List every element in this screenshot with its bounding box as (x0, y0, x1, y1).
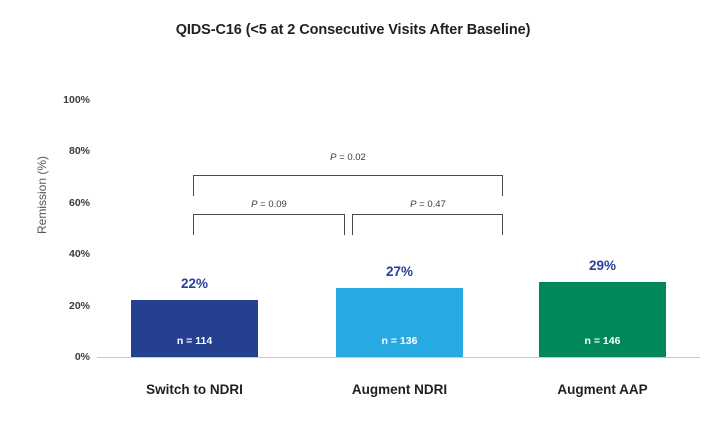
bar-count-label-augment-ndri: n = 136 (382, 335, 418, 347)
y-axis-tick-labels: 100% 80% 60% 40% 20% 0% (0, 0, 100, 428)
significance-bracket-left (193, 214, 345, 235)
x-axis-baseline (97, 357, 700, 358)
y-tick-20: 20% (10, 300, 90, 312)
significance-label-outer: P = 0.02 (330, 152, 366, 163)
x-axis-category-augment-aap: Augment AAP (557, 382, 647, 397)
bar-switch-to-ndri[interactable] (131, 300, 258, 357)
y-tick-0: 0% (10, 351, 90, 363)
x-axis-category-augment-ndri: Augment NDRI (352, 382, 447, 397)
bar-value-label-augment-ndri: 27% (386, 264, 413, 279)
p-value-right: = 0.47 (417, 199, 446, 210)
y-tick-100: 100% (10, 94, 90, 106)
significance-label-left: P = 0.09 (251, 199, 287, 210)
bar-value-label-switch-to-ndri: 22% (181, 276, 208, 291)
bar-count-label-augment-aap: n = 146 (585, 335, 621, 347)
significance-bracket-right (352, 214, 503, 235)
y-tick-60: 60% (10, 197, 90, 209)
y-tick-80: 80% (10, 145, 90, 157)
significance-label-right: P = 0.47 (410, 199, 446, 210)
bar-count-label-switch-to-ndri: n = 114 (177, 335, 212, 347)
chart-title: QIDS-C16 (<5 at 2 Consecutive Visits Aft… (0, 22, 706, 38)
bar-value-label-augment-aap: 29% (589, 258, 616, 273)
significance-bracket-outer (193, 175, 503, 196)
x-axis-category-switch-to-ndri: Switch to NDRI (146, 382, 243, 397)
p-value-left: = 0.09 (258, 199, 287, 210)
bar-chart-figure: QIDS-C16 (<5 at 2 Consecutive Visits Aft… (0, 0, 706, 428)
y-tick-40: 40% (10, 248, 90, 260)
p-value-outer: = 0.02 (337, 152, 366, 163)
